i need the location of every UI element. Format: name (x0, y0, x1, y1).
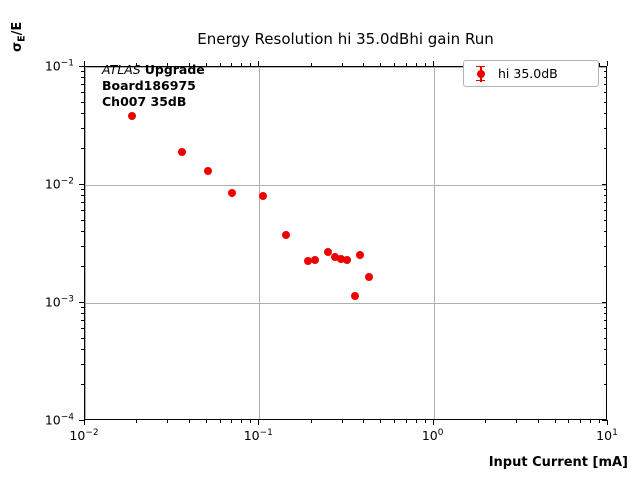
y-axis-ticklabel: 10−3 (45, 294, 74, 309)
y-axis-tick (602, 184, 607, 185)
x-axis-tick (342, 63, 343, 66)
y-axis-tick (602, 66, 607, 67)
x-axis-tick (380, 420, 381, 423)
y-axis-tick (604, 189, 607, 190)
y-axis-tick (604, 84, 607, 85)
x-axis-tick (406, 420, 407, 423)
chart-title: Energy Resolution hi 35.0dBhi gain Run (84, 30, 607, 48)
y-axis-tick (79, 302, 84, 303)
y-axis-tick (81, 148, 84, 149)
data-point (128, 112, 136, 120)
y-axis-tick (81, 246, 84, 247)
y-axis-tick (604, 364, 607, 365)
y-axis-tick (602, 302, 607, 303)
y-axis-tick (81, 189, 84, 190)
chart-legend[interactable]: hi 35.0dB (463, 60, 599, 87)
x-axis-tick (206, 63, 207, 66)
x-axis-tick (607, 61, 608, 66)
x-axis-tick (607, 420, 608, 425)
x-axis-tick (516, 420, 517, 423)
legend-label: hi 35.0dB (498, 66, 558, 81)
y-axis-tick (604, 338, 607, 339)
x-axis-ticklabel: 10−2 (69, 428, 98, 443)
y-axis-tick (81, 364, 84, 365)
y-axis-tick (604, 220, 607, 221)
x-axis-tick (231, 63, 232, 66)
y-axis-tick (604, 231, 607, 232)
y-axis-tick (81, 338, 84, 339)
y-axis-tick (81, 102, 84, 103)
data-point (178, 148, 186, 156)
x-axis-tick (599, 420, 600, 423)
x-axis-tick (568, 420, 569, 423)
data-point (343, 256, 351, 264)
x-axis-tick (394, 420, 395, 423)
data-point (282, 231, 290, 239)
x-axis-tick (258, 61, 259, 66)
x-axis-tick (394, 63, 395, 66)
data-point (204, 167, 212, 175)
annotation-atlas-text: ATLAS (102, 62, 141, 77)
y-axis-tick (604, 128, 607, 129)
x-axis-tick (206, 420, 207, 423)
y-axis-tick (81, 84, 84, 85)
gridline-vertical (85, 67, 86, 419)
x-axis-tick (84, 61, 85, 66)
y-axis-ticklabel: 10−2 (45, 176, 74, 191)
x-axis-label: Input Current [mA] (0, 455, 628, 470)
y-axis-tick (81, 71, 84, 72)
y-axis-tick (81, 220, 84, 221)
x-axis-tick (425, 420, 426, 423)
y-axis-tick (81, 313, 84, 314)
x-axis-tick (311, 63, 312, 66)
x-axis-tick (538, 420, 539, 423)
atlas-annotation: ATLAS Upgrade Board186975 Ch007 35dB (102, 62, 205, 110)
y-axis-label-tail: /E (10, 22, 25, 36)
x-axis-tick (485, 420, 486, 423)
y-axis-label-subscript: E (17, 35, 28, 42)
y-axis-tick (604, 102, 607, 103)
x-axis-tick (84, 420, 85, 425)
y-axis-label: σE/E (10, 22, 28, 52)
y-axis-tick (604, 195, 607, 196)
data-point (311, 256, 319, 264)
x-axis-tick (416, 63, 417, 66)
x-axis-tick (599, 63, 600, 66)
y-axis-tick (81, 210, 84, 211)
gridline-vertical (259, 67, 260, 419)
x-axis-tick (220, 420, 221, 423)
x-axis-tick (250, 63, 251, 66)
gridline-horizontal (85, 185, 606, 186)
x-axis-ticklabel: 100 (422, 428, 444, 443)
data-point (259, 192, 267, 200)
x-axis-tick (363, 420, 364, 423)
y-axis-tick (81, 349, 84, 350)
y-axis-ticklabel: 10−1 (45, 58, 74, 73)
y-axis-tick (604, 349, 607, 350)
x-axis-tick (167, 420, 168, 423)
x-axis-tick (416, 420, 417, 423)
annotation-line-2: Board186975 (102, 78, 205, 94)
y-axis-tick (604, 384, 607, 385)
y-axis-tick (81, 113, 84, 114)
x-axis-tick (136, 420, 137, 423)
y-axis-tick (604, 202, 607, 203)
y-axis-tick (604, 210, 607, 211)
x-axis-tick (590, 420, 591, 423)
x-axis-tick (342, 420, 343, 423)
x-axis-tick (220, 63, 221, 66)
data-point (365, 273, 373, 281)
data-point (228, 189, 236, 197)
legend-marker-errorbar-icon (464, 64, 498, 84)
x-axis-tick (231, 420, 232, 423)
y-axis-tick (81, 328, 84, 329)
y-axis-tick (604, 92, 607, 93)
annotation-line-1: ATLAS Upgrade (102, 62, 205, 78)
y-axis-tick (81, 384, 84, 385)
y-axis-tick (604, 246, 607, 247)
y-axis-tick (81, 266, 84, 267)
y-axis-tick (604, 113, 607, 114)
y-axis-tick (81, 307, 84, 308)
y-axis-tick (604, 266, 607, 267)
annotation-upgrade-text: Upgrade (145, 62, 205, 77)
x-axis-tick (241, 63, 242, 66)
y-axis-ticklabel: 10−4 (45, 412, 74, 427)
x-axis-ticklabel: 101 (596, 428, 618, 443)
y-axis-tick (604, 77, 607, 78)
y-axis-tick (81, 92, 84, 93)
x-axis-tick (311, 420, 312, 423)
data-point (351, 292, 359, 300)
y-axis-tick (604, 307, 607, 308)
x-axis-tick (380, 63, 381, 66)
y-axis-tick (604, 328, 607, 329)
y-axis-tick (79, 184, 84, 185)
x-axis-tick (241, 420, 242, 423)
x-axis-tick (406, 63, 407, 66)
x-axis-tick (363, 63, 364, 66)
data-point (356, 251, 364, 259)
y-axis-tick (81, 202, 84, 203)
x-axis-tick (555, 420, 556, 423)
x-axis-tick (425, 63, 426, 66)
y-axis-tick (604, 71, 607, 72)
x-axis-tick (258, 420, 259, 425)
annotation-line-3: Ch007 35dB (102, 94, 205, 110)
y-axis-tick (79, 420, 84, 421)
y-axis-tick (604, 320, 607, 321)
plot-area (84, 66, 607, 420)
chart-figure: Energy Resolution hi 35.0dBhi gain Run 1… (0, 0, 640, 480)
x-axis-ticklabel: 10−1 (244, 428, 273, 443)
x-axis-tick (433, 420, 434, 425)
y-axis-tick (81, 320, 84, 321)
gridline-vertical (434, 67, 435, 419)
x-axis-tick (433, 61, 434, 66)
x-axis-tick (580, 420, 581, 423)
y-axis-label-sigma: σ (10, 42, 25, 52)
y-axis-tick (79, 66, 84, 67)
gridline-horizontal (85, 303, 606, 304)
y-axis-tick (81, 128, 84, 129)
y-axis-tick (81, 231, 84, 232)
y-axis-tick (602, 420, 607, 421)
y-axis-tick (81, 195, 84, 196)
x-axis-tick (189, 420, 190, 423)
y-axis-tick (604, 148, 607, 149)
x-axis-tick (250, 420, 251, 423)
y-axis-tick (604, 313, 607, 314)
y-axis-tick (81, 77, 84, 78)
